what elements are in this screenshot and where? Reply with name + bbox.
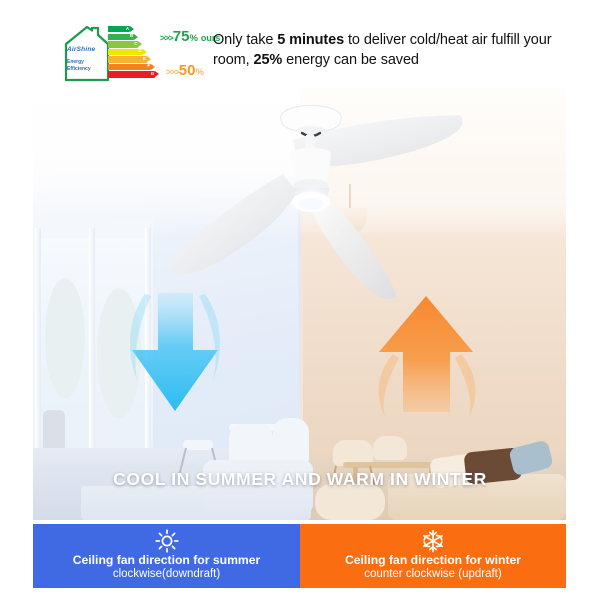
energy-label-sub-line2: Efficiency [67,66,91,72]
bottom-callout-value: 50 [179,62,196,79]
energy-efficiency-label: AirShine Energy Efficiency ABCDEFG >>>75… [62,24,202,82]
header: AirShine Energy Efficiency ABCDEFG >>>75… [0,0,600,88]
bottom-callout-symbol: % [195,67,203,78]
energy-label-subtitle: Energy Efficiency [67,59,107,73]
energy-bar-letter-g: G [151,71,154,76]
bottom-callout-chevrons: >>> [166,67,179,77]
house-outline-icon [62,24,112,82]
energy-bar-f: F [108,64,151,70]
photo-overlay-caption: COOL IN SUMMER AND WARM IN WINTER [0,469,600,490]
energy-bar-c: C [108,41,138,47]
summer-subtitle: clockwise(downdraft) [33,568,300,580]
airflow-arrows [33,88,566,520]
headline-bold2: 25% [254,52,283,68]
product-infographic: AirShine Energy Efficiency ABCDEFG >>>75… [0,0,600,600]
headline-text: Only take 5 minutes to deliver cold/heat… [213,30,563,70]
winter-panel[interactable]: Ceiling fan direction for winter counter… [300,524,566,588]
energy-label-brand: AirShine [67,46,107,53]
energy-bar-letter-e: E [143,56,146,61]
energy-bar-b: B [108,34,134,40]
room-photo [33,88,566,520]
energy-bar-d: D [108,49,143,55]
top-callout-value: 75 [173,28,190,45]
energy-grade-bars: ABCDEFG [108,26,158,82]
energy-bar-g: G [108,71,155,77]
energy-bar-arrow-e [147,56,151,62]
headline-part3: energy can be saved [282,52,419,68]
energy-bar-letter-a: A [126,26,129,31]
energy-bar-letter-f: F [147,63,150,68]
energy-bar-letter-d: D [138,48,141,53]
energy-label-sub-line1: Energy [67,59,84,65]
energy-bar-arrow-b [134,34,138,40]
energy-top-callout: >>>75%ours [160,28,220,46]
energy-bar-arrow-c [138,41,142,47]
headline-part1: Only take [213,32,277,48]
top-callout-symbol: % [189,33,197,44]
energy-bottom-callout: >>>50% [166,62,204,80]
headline-bold1: 5 minutes [277,32,344,48]
winter-subtitle: counter clockwise (updraft) [300,568,566,580]
energy-bar-arrow-f [151,64,155,70]
energy-bar-a: A [108,26,130,32]
energy-bar-arrow-a [130,26,134,32]
energy-bar-arrow-d [143,49,147,55]
direction-bar: Ceiling fan direction for summer clockwi… [33,524,566,588]
energy-bar-e: E [108,56,147,62]
top-callout-chevrons: >>> [160,33,173,43]
energy-bar-letter-c: C [134,41,137,46]
energy-bar-letter-b: B [130,33,133,38]
energy-bar-arrow-g [155,71,159,77]
summer-panel[interactable]: Ceiling fan direction for summer clockwi… [33,524,300,588]
winter-title: Ceiling fan direction for winter [300,553,566,567]
summer-title: Ceiling fan direction for summer [33,553,300,567]
